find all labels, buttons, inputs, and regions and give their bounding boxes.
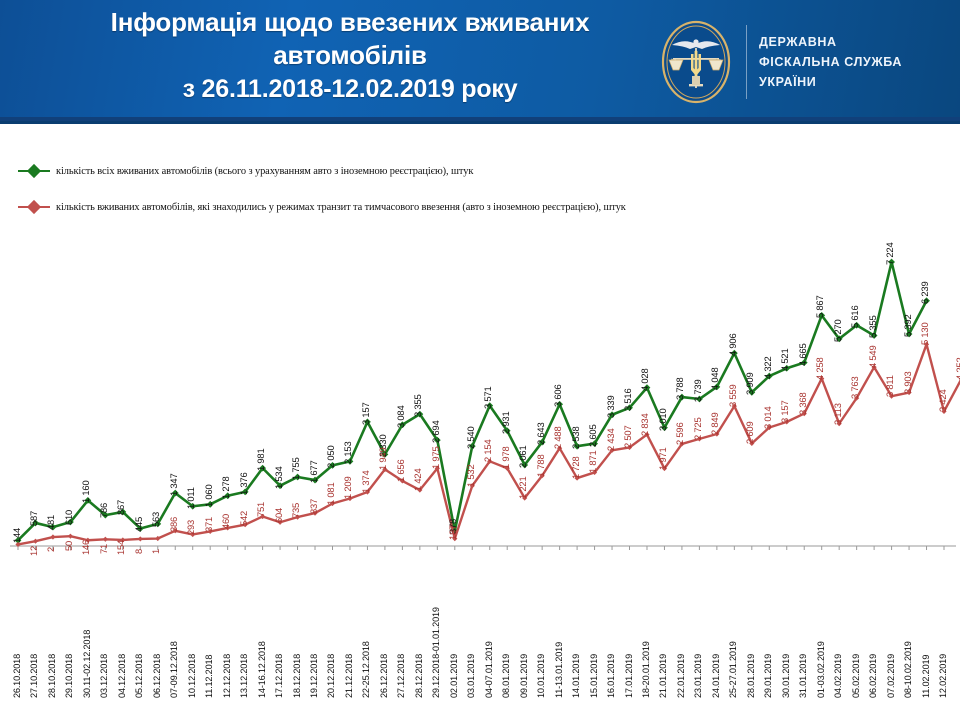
x-axis-label: 14-16.12.2018: [257, 641, 267, 698]
x-axis-label: 27.12.2018: [396, 654, 406, 698]
value-label-green: 3 606: [552, 385, 563, 407]
x-axis-label: 05.12.2018: [134, 654, 144, 698]
value-label-green: 3 157: [360, 402, 371, 424]
value-label-red: 1 532: [465, 464, 476, 486]
x-axis-label: 18-20.01.2019: [641, 641, 651, 698]
value-label-green: 4 521: [779, 349, 790, 371]
value-label-green: 2 050: [325, 446, 336, 468]
value-label-green: 2 540: [465, 427, 476, 449]
page-title-line3: з 26.11.2018-12.02.2019 року: [0, 73, 700, 105]
value-label-green: 4 322: [762, 357, 773, 379]
organization-name-line3: УКРАЇНИ: [759, 72, 902, 92]
value-label-green: 5 270: [832, 319, 843, 341]
value-label-red: 3 763: [849, 377, 860, 399]
x-axis-label: 27.10.2018: [29, 654, 39, 698]
value-label-red: 1 975: [430, 447, 441, 469]
value-label-red: 2 596: [674, 422, 685, 444]
value-label-green: 2 061: [517, 446, 528, 468]
page-title: Інформація щодо ввезених вживаних автомо…: [0, 6, 700, 105]
value-label-red: 1 949: [377, 448, 388, 470]
chart-value-labels: 1445874816101 1607868674455631 3471 0111…: [0, 140, 960, 560]
x-axis-label: 25-27.01.2019: [728, 641, 738, 698]
value-label-green: 3 788: [674, 378, 685, 400]
organization-name-line1: ДЕРЖАВНА: [759, 32, 902, 52]
x-axis-label: 08.01.2019: [501, 654, 511, 698]
value-label-green: 610: [63, 510, 74, 525]
x-axis-label: 26.12.2018: [379, 654, 389, 698]
value-label-green: 3 571: [482, 386, 493, 408]
organization-name: ДЕРЖАВНА ФІСКАЛЬНА СЛУЖБА УКРАЇНИ: [759, 32, 902, 93]
value-label-green: 2 643: [535, 423, 546, 445]
value-label-green: 1 755: [290, 458, 301, 480]
x-axis-label: 06.12.2018: [152, 654, 162, 698]
value-label-green: 3 739: [692, 380, 703, 402]
value-label-green: 1 981: [255, 449, 266, 471]
value-label-green: 1 376: [238, 472, 249, 494]
value-label-green: 2 538: [570, 427, 581, 449]
page-title-line1: Інформація щодо ввезених вживаних: [0, 6, 700, 39]
x-axis-label: 04.12.2018: [117, 654, 127, 698]
value-label-green: 3 084: [395, 405, 406, 427]
x-axis-label: 29.01.2019: [763, 654, 773, 698]
value-label-red: 2 849: [709, 413, 720, 435]
value-label-green: 2 694: [430, 421, 441, 443]
value-label-green: 5 616: [849, 306, 860, 328]
value-label-green: 3 010: [657, 408, 668, 430]
value-label-red: 386: [168, 517, 179, 532]
x-axis-label: 23.01.2019: [693, 654, 703, 698]
x-axis-label: 22.01.2019: [676, 654, 686, 698]
value-label-red: 460: [220, 514, 231, 529]
x-axis-label: 22-25.12.2018: [361, 641, 371, 698]
value-label-green: 563: [150, 512, 161, 527]
value-label-green: 786: [98, 503, 109, 518]
value-label-red: 371: [203, 517, 214, 532]
x-axis-label: 19.12.2018: [309, 654, 319, 698]
value-label-green: 3 516: [622, 388, 633, 410]
value-label-green: 1 060: [203, 485, 214, 507]
value-label-red: 3 559: [727, 385, 738, 407]
value-label-red: 1 656: [395, 459, 406, 481]
x-axis-label: 07-09.12.2018: [169, 641, 179, 698]
value-label-green: 2 605: [587, 424, 598, 446]
value-label-green: 1 347: [168, 474, 179, 496]
value-label-green: 1 278: [220, 476, 231, 498]
value-label-green: 5 355: [867, 316, 878, 338]
value-label-green: 5 392: [902, 315, 913, 337]
value-label-red: 3 903: [902, 371, 913, 393]
value-label-green: 4 665: [797, 343, 808, 365]
x-axis-label: 12.12.2018: [222, 654, 232, 698]
chart-x-axis-labels: 26.10.201827.10.201828.10.201829.10.2018…: [0, 548, 960, 708]
x-axis-label: 26.10.2018: [12, 654, 22, 698]
x-axis-label: 09.01.2019: [519, 654, 529, 698]
page-header: Інформація щодо ввезених вживаних автомо…: [0, 0, 960, 124]
value-label-red: 1 374: [360, 471, 371, 493]
value-label-red: 1 081: [325, 482, 336, 504]
x-axis-label: 29.12.2018-01.01.2019: [431, 607, 441, 698]
x-axis-label: 04-07.01.2019: [484, 641, 494, 698]
value-label-red: 3 157: [779, 400, 790, 422]
value-label-green: 1 160: [80, 481, 91, 503]
value-label-green: 1 677: [308, 461, 319, 483]
value-label-red: 2 725: [692, 417, 703, 439]
value-label-red: 542: [238, 511, 249, 526]
value-label-red: 1 971: [657, 447, 668, 469]
value-label-red: 1 424: [412, 469, 423, 491]
x-axis-label: 11-13.01.2019: [554, 642, 564, 698]
value-label-red: 1 728: [570, 457, 581, 479]
x-axis-label: 21.12.2018: [344, 654, 354, 698]
value-label-red: 3 014: [762, 406, 773, 428]
value-label-red: 4 549: [867, 346, 878, 368]
value-label-red: 2 154: [482, 440, 493, 462]
value-label-green: 3 355: [412, 395, 423, 417]
value-label-green: 2 931: [500, 411, 511, 433]
value-label-green: 587: [28, 511, 39, 526]
value-label-red: 1 209: [342, 477, 353, 499]
value-label-green: 1 011: [185, 487, 196, 509]
x-axis-label: 10.01.2019: [536, 654, 546, 698]
value-label-red: 751: [255, 502, 266, 517]
x-axis-label: 08-10.02.2019: [903, 641, 913, 698]
x-axis-label: 04.02.2019: [833, 654, 843, 698]
value-label-red: 1 221: [517, 477, 528, 499]
value-label-red: 3 424: [937, 390, 948, 412]
organization-logo: ДЕРЖАВНА ФІСКАЛЬНА СЛУЖБА УКРАЇНИ: [658, 14, 902, 110]
value-label-red: 2 434: [605, 429, 616, 451]
x-axis-label: 07.02.2019: [886, 654, 896, 698]
value-label-red: 187: [447, 525, 458, 540]
x-axis-label: 03.01.2019: [466, 654, 476, 698]
value-label-green: 3 909: [744, 373, 755, 395]
page-title-line2: автомобілів: [0, 39, 700, 72]
value-label-green: 445: [133, 516, 144, 531]
x-axis-label: 01-03.02.2019: [816, 641, 826, 698]
x-axis-label: 05.02.2019: [851, 654, 861, 698]
x-axis-label: 12.02.2019: [938, 654, 948, 698]
value-label-red: 3 113: [832, 403, 843, 425]
value-label-red: 2 488: [552, 427, 563, 449]
x-axis-label: 11.02.2019: [921, 655, 931, 698]
x-axis-label: 29.10.2018: [64, 654, 74, 698]
x-axis-label: 20.12.2018: [326, 654, 336, 698]
x-axis-label: 03.12.2018: [99, 654, 109, 698]
organization-name-line2: ФІСКАЛЬНА СЛУЖБА: [759, 52, 902, 72]
x-axis-label: 18.12.2018: [292, 654, 302, 698]
x-axis-label: 21.01.2019: [658, 654, 668, 698]
x-axis-label: 15.01.2019: [589, 654, 599, 698]
value-label-red: 2 507: [622, 426, 633, 448]
value-label-red: 3 368: [797, 392, 808, 414]
value-label-green: 2 153: [342, 442, 353, 464]
logo-divider: [746, 25, 747, 99]
value-label-red: 4 258: [814, 357, 825, 379]
value-label-red: 1 788: [535, 454, 546, 476]
value-label-green: 4 028: [639, 368, 650, 390]
x-axis-label: 28.01.2019: [746, 654, 756, 698]
x-axis-label: 16.01.2019: [606, 654, 616, 698]
value-label-green: 144: [11, 528, 22, 543]
x-axis-label: 11.12.2018: [204, 655, 214, 698]
x-axis-label: 30.11-02.12.2018: [82, 630, 92, 698]
x-axis-label: 13.12.2018: [239, 654, 249, 698]
x-axis-label: 28.12.2018: [414, 654, 424, 698]
x-axis-label: 06.02.2019: [868, 654, 878, 698]
value-label-green: 6 239: [919, 281, 930, 303]
x-axis-label: 31.01.2019: [798, 654, 808, 698]
x-axis-label: 28.10.2018: [47, 654, 57, 698]
value-label-green: 867: [115, 500, 126, 515]
value-label-green: 5 867: [814, 296, 825, 318]
value-label-red: 735: [290, 503, 301, 518]
x-axis-label: 24.01.2019: [711, 654, 721, 698]
x-axis-label: 14.01.2019: [571, 654, 581, 698]
value-label-red: 2 609: [744, 422, 755, 444]
value-label-red: 4 252: [954, 357, 960, 379]
state-emblem-icon: [658, 18, 734, 106]
value-label-red: 3 811: [884, 375, 895, 397]
x-axis-label: 17.01.2019: [624, 654, 634, 698]
value-label-red: 2 834: [639, 413, 650, 435]
x-axis-label: 10.12.2018: [187, 654, 197, 698]
value-label-green: 4 906: [727, 334, 738, 356]
value-label-green: 481: [45, 515, 56, 530]
value-label-red: 604: [273, 508, 284, 523]
x-axis-label: 02.01.2019: [449, 654, 459, 698]
x-axis-label: 30.01.2019: [781, 654, 791, 698]
value-label-green: 4 048: [709, 367, 720, 389]
value-label-green: 3 339: [605, 395, 616, 417]
value-label-red: 1 871: [587, 451, 598, 473]
value-label-red: 837: [308, 499, 319, 514]
value-label-green: 1 534: [273, 466, 284, 488]
x-axis-label: 17.12.2018: [274, 654, 284, 698]
value-label-green: 7 224: [884, 243, 895, 265]
value-label-red: 5 130: [919, 323, 930, 345]
value-label-red: 293: [185, 520, 196, 535]
value-label-red: 1 978: [500, 447, 511, 469]
